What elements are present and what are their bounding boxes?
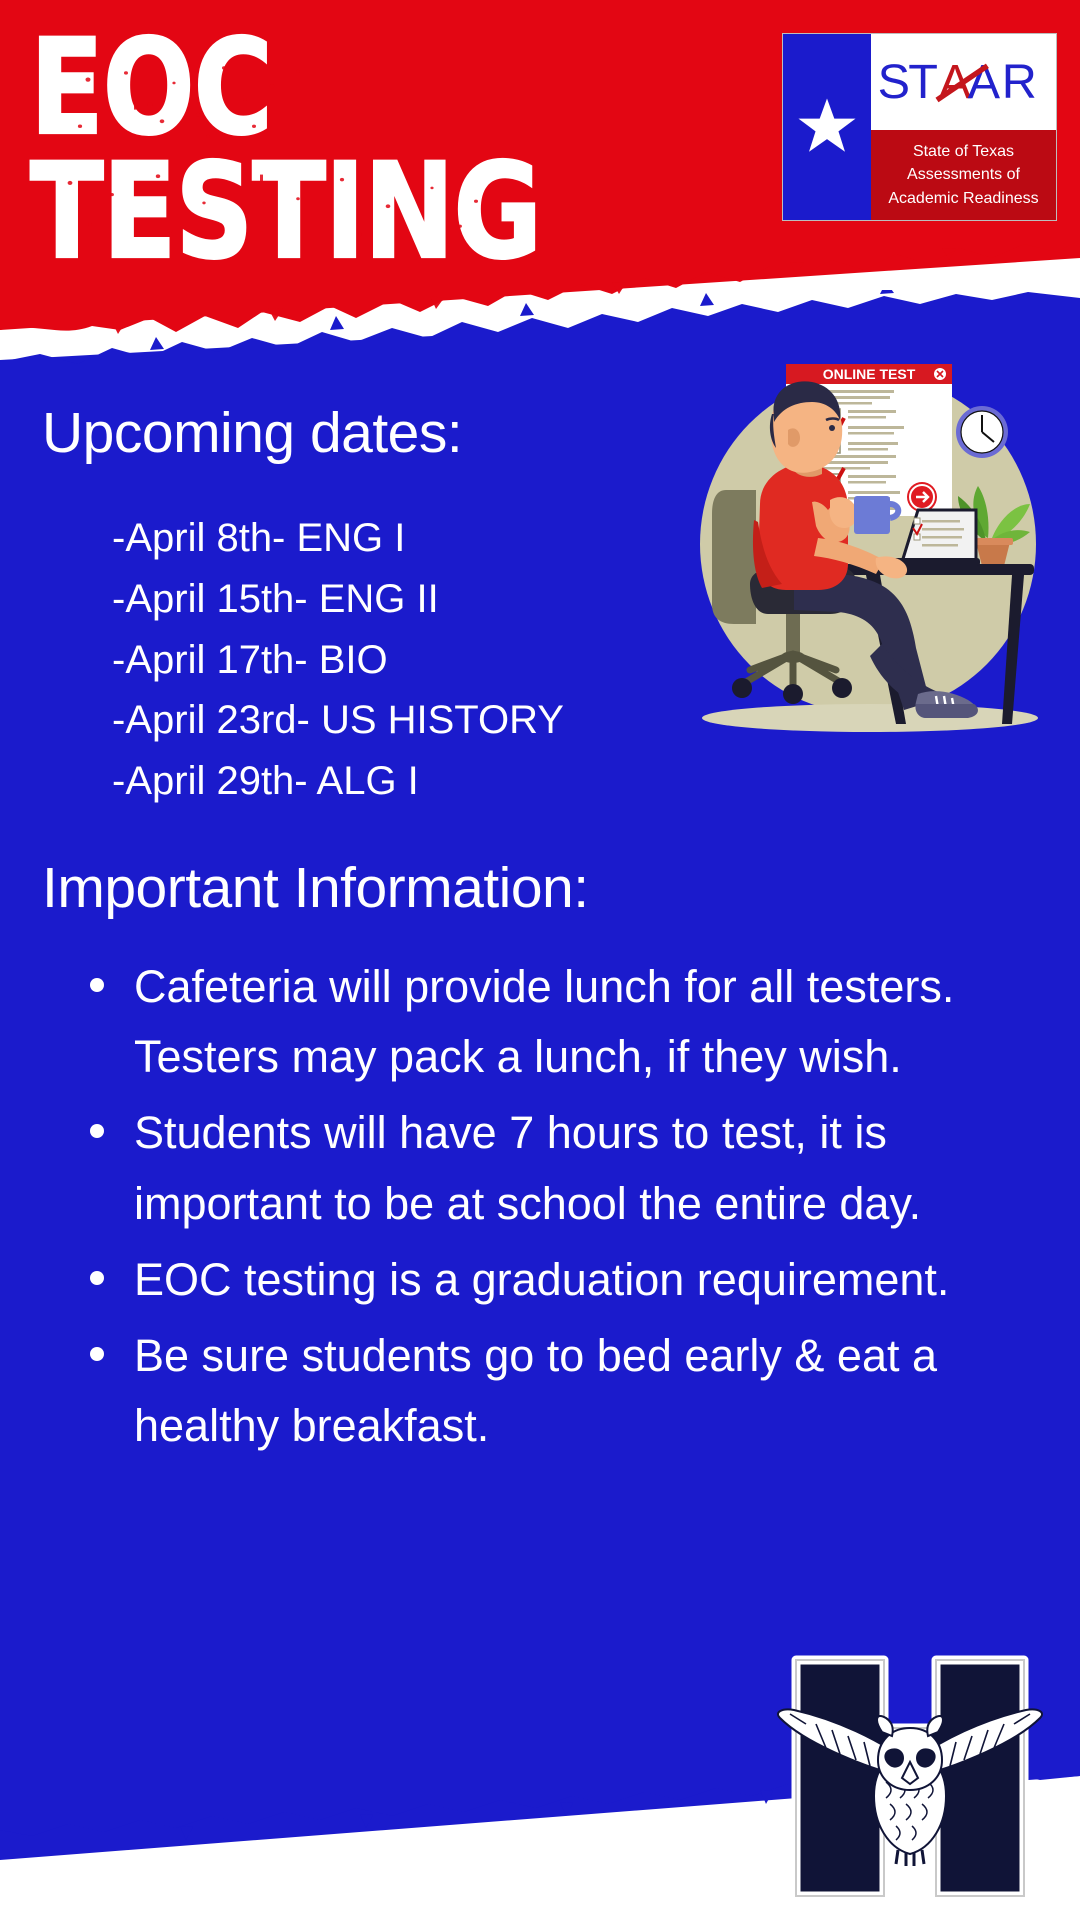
texas-star-icon [796, 96, 858, 158]
bullet-icon [90, 1347, 104, 1361]
staar-subtitle-line-3: Academic Readiness [888, 187, 1038, 210]
important-information-heading: Important Information: [42, 855, 589, 921]
texas-flag-panel [783, 34, 871, 220]
staar-subtitle-line-1: State of Texas [913, 140, 1014, 163]
list-item-text: Cafeteria will provide lunch for all tes… [134, 961, 954, 1082]
poster-canvas: EOC TESTING [0, 0, 1080, 1920]
staar-subtitle: State of Texas Assessments of Academic R… [871, 130, 1056, 220]
bullet-icon [90, 1124, 104, 1138]
staar-logo: S T A A R State of Texas Assessments of … [777, 28, 1062, 226]
upcoming-dates-heading: Upcoming dates: [42, 400, 462, 466]
bullet-icon [90, 1271, 104, 1285]
staar-wordmark-svg: S T A A R [874, 53, 1054, 111]
title-line-2: TESTING [30, 152, 630, 275]
poster-title: EOC TESTING [30, 28, 630, 253]
date-item: -April 29th- ALG I [112, 751, 564, 812]
wall-clock-icon [956, 406, 1008, 458]
online-test-title: ONLINE TEST [823, 366, 916, 382]
svg-text:A: A [967, 55, 1000, 109]
title-line-1: EOC [30, 28, 630, 151]
staar-subtitle-line-2: Assessments of [907, 163, 1020, 186]
floor-shadow [702, 704, 1038, 732]
student-taking-online-test-illustration: ONLINE TEST 1. abc 2. [690, 352, 1050, 732]
upcoming-dates-list: -April 8th- ENG I -April 15th- ENG II -A… [112, 508, 564, 812]
important-information-list: Cafeteria will provide lunch for all tes… [82, 952, 1012, 1467]
bullet-icon [90, 978, 104, 992]
date-item: -April 23rd- US HISTORY [112, 690, 564, 751]
list-item: Cafeteria will provide lunch for all tes… [82, 952, 1012, 1092]
list-item: Students will have 7 hours to test, it i… [82, 1098, 1012, 1238]
date-item: -April 15th- ENG II [112, 569, 564, 630]
school-logo [760, 1632, 1060, 1920]
arrow-right-circle-icon [907, 482, 937, 512]
list-item: EOC testing is a graduation requirement. [82, 1245, 1012, 1315]
svg-text:R: R [1001, 55, 1036, 109]
svg-text:T: T [908, 55, 938, 109]
list-item-text: Students will have 7 hours to test, it i… [134, 1107, 921, 1228]
staar-wordmark: S T A A R [871, 34, 1056, 130]
date-item: -April 8th- ENG I [112, 508, 564, 569]
svg-text:S: S [877, 55, 909, 109]
date-item: -April 17th- BIO [112, 630, 564, 691]
list-item-text: EOC testing is a graduation requirement. [134, 1254, 949, 1305]
list-item-text: Be sure students go to bed early & eat a… [134, 1330, 937, 1451]
list-item: Be sure students go to bed early & eat a… [82, 1321, 1012, 1461]
